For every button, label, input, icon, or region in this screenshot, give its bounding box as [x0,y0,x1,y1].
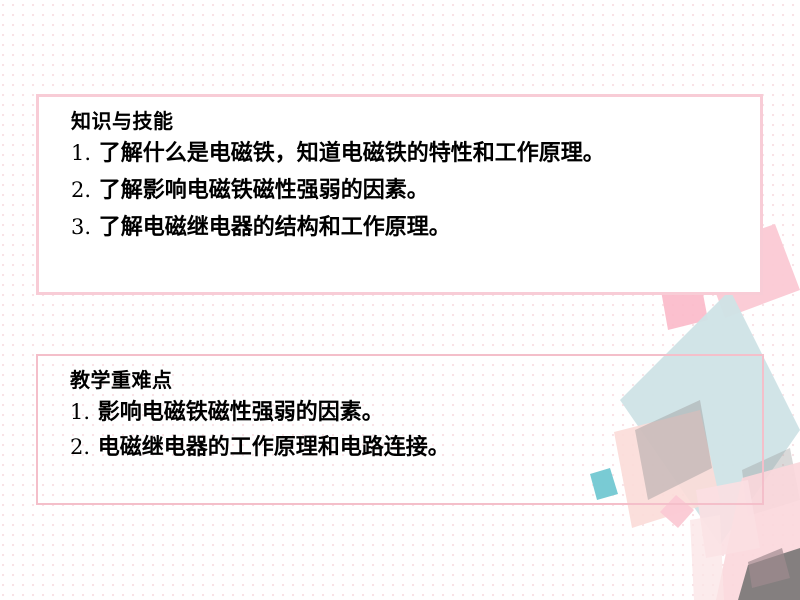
keypoints-item-1: 1. 影响电磁铁磁性强弱的因素。 [70,402,762,424]
keypoints-item-2-text: 电磁继电器的工作原理和电路连接。 [98,435,450,460]
knowledge-item-3-text: 了解电磁继电器的结构和工作原理。 [99,215,451,240]
dot-grid-background [0,0,800,600]
keypoints-item-1-text: 影响电磁铁磁性强弱的因素。 [98,400,384,425]
knowledge-item-3: 3. 了解电磁继电器的结构和工作原理。 [71,217,760,239]
teaching-keypoints-box: 教学重难点 1. 影响电磁铁磁性强弱的因素。 2. 电磁继电器的工作原理和电路连… [36,354,764,505]
knowledge-item-1-text: 了解什么是电磁铁，知道电磁铁的特性和工作原理。 [99,141,605,166]
knowledge-skills-box: 知识与技能 1. 了解什么是电磁铁，知道电磁铁的特性和工作原理。 2. 了解影响… [36,94,763,295]
knowledge-item-3-number: 3. [71,215,91,239]
knowledge-box-heading: 知识与技能 [71,111,760,131]
decorative-shapes-group [0,0,800,600]
gray-triangle-bottom [738,548,800,600]
slide-canvas: 知识与技能 1. 了解什么是电磁铁，知道电磁铁的特性和工作原理。 2. 了解影响… [0,0,800,600]
knowledge-item-2-number: 2. [71,178,91,202]
keypoints-item-1-number: 1. [70,400,90,424]
keypoints-box-heading: 教学重难点 [70,370,762,390]
knowledge-item-2: 2. 了解影响电磁铁磁性强弱的因素。 [71,180,760,202]
gray-triangle-bottom-light [748,548,790,588]
keypoints-item-2: 2. 电磁继电器的工作原理和电路连接。 [70,437,762,459]
keypoints-item-2-number: 2. [70,435,90,459]
decoration-svg [0,0,800,600]
knowledge-item-1-number: 1. [71,141,91,165]
knowledge-item-1: 1. 了解什么是电磁铁，知道电磁铁的特性和工作原理。 [71,143,760,165]
pink-edge-bottom-right [690,515,724,600]
knowledge-item-2-text: 了解影响电磁铁磁性强弱的因素。 [99,178,429,203]
